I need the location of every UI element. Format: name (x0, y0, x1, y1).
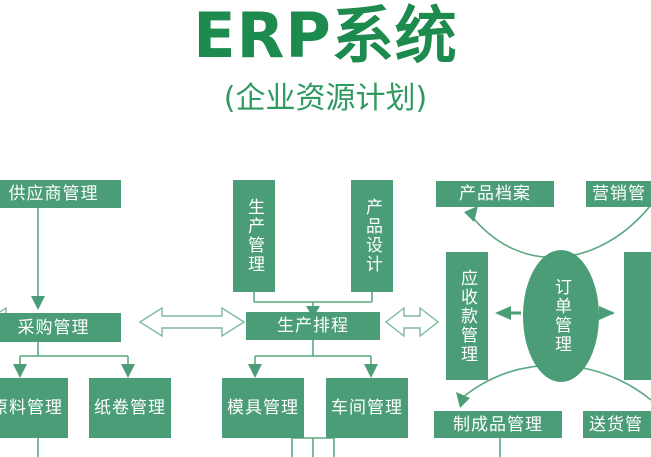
arrowhead-purchase (31, 296, 45, 310)
node-mold[interactable]: 模具管理 (222, 378, 304, 438)
arrowhead-mold (248, 364, 262, 378)
node-mold-label: 模具管理 (227, 397, 299, 419)
node-delivery-label: 送货管 (589, 415, 643, 435)
page-subtitle: (企业资源计划) (0, 82, 651, 116)
node-proddesign-label: 产品设计 (362, 198, 382, 274)
node-receivable-label: 应收款管理 (457, 269, 477, 364)
node-rawmaterial-label: 原料管理 (0, 397, 63, 419)
node-marketing-label: 营销管 (592, 184, 646, 204)
arrowhead-order-to-receivable (495, 306, 511, 320)
page-title: ERP系统 (0, 4, 651, 68)
node-receivable[interactable]: 应收款管理 (446, 252, 488, 380)
arrowhead-finished (456, 392, 470, 408)
node-order-label: 订单管理 (551, 278, 571, 354)
node-order[interactable]: 订单管理 (523, 250, 599, 382)
node-schedule[interactable]: 生产排程 (246, 312, 380, 340)
arrowhead-order-to-right (599, 306, 615, 320)
hollow-double-arrow-left (140, 308, 244, 336)
node-supplier-label: 供应商管理 (9, 184, 99, 204)
node-marketing[interactable]: 营销管 (586, 181, 651, 207)
arrowhead-prodarchive (464, 206, 478, 222)
node-finished-label: 制成品管理 (453, 415, 543, 435)
node-right-edge[interactable] (624, 252, 651, 380)
node-paperroll-label: 纸卷管理 (94, 397, 166, 419)
node-production-label: 生产管理 (244, 198, 264, 274)
node-prodarchive[interactable]: 产品档案 (436, 181, 554, 207)
node-prodarchive-label: 产品档案 (459, 184, 531, 204)
node-delivery[interactable]: 送货管 (583, 411, 651, 438)
node-purchase-label: 采购管理 (18, 318, 90, 338)
node-production[interactable]: 生产管理 (233, 180, 275, 292)
node-rawmaterial[interactable]: 原料管理 (0, 378, 68, 438)
node-paperroll[interactable]: 纸卷管理 (89, 378, 171, 438)
node-finished[interactable]: 制成品管理 (434, 411, 562, 438)
hollow-double-arrow-right (386, 308, 438, 336)
node-purchase[interactable]: 采购管理 (0, 313, 121, 342)
arrowhead-paperroll (121, 364, 135, 378)
node-workshop-label: 车间管理 (331, 397, 403, 419)
node-proddesign[interactable]: 产品设计 (351, 180, 393, 292)
node-workshop[interactable]: 车间管理 (326, 378, 408, 438)
node-schedule-label: 生产排程 (277, 316, 349, 336)
arrowhead-rawmaterial (13, 364, 27, 378)
erp-diagram-canvas: ERP系统 (企业资源计划) (0, 0, 651, 457)
arrowhead-workshop (364, 364, 378, 378)
node-supplier[interactable]: 供应商管理 (0, 180, 121, 208)
